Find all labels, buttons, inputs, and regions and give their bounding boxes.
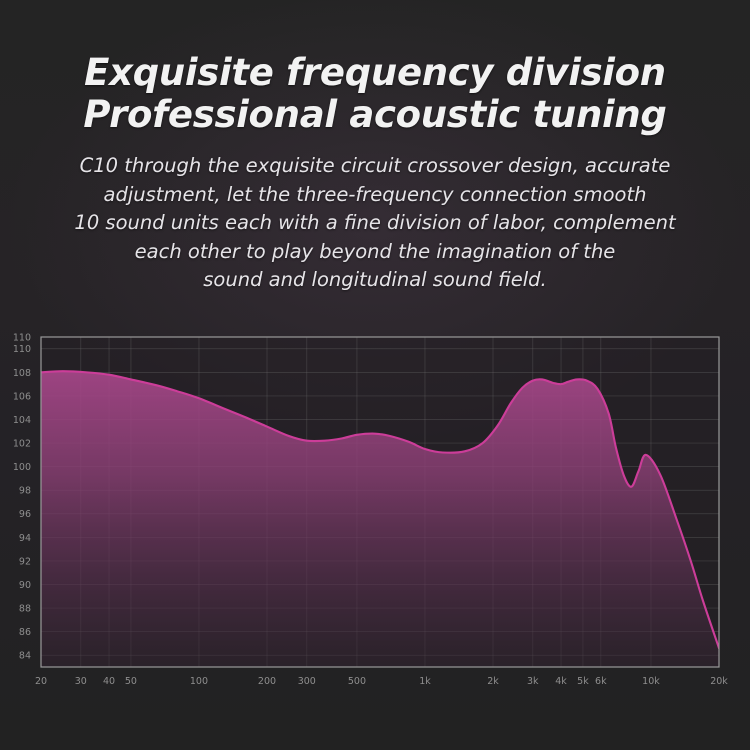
x-axis-label: 10k [642, 676, 660, 687]
x-axis-label: 30 [75, 676, 87, 687]
y-axis-label: 100 [13, 462, 31, 473]
title-line-2: Professional acoustic tuning [0, 94, 750, 136]
x-axis-tick-labels: 203040501002003005001k2k3k4k5k6k10k20k [35, 676, 728, 687]
y-axis-label: 84 [19, 651, 31, 662]
x-axis-label: 20k [710, 676, 728, 687]
description-line-2: adjustment, let the three-frequency conn… [0, 181, 750, 210]
y-axis-label: 88 [19, 603, 31, 614]
header: Exquisite frequency division Professiona… [0, 0, 750, 295]
x-axis-label: 2k [487, 676, 499, 687]
x-axis-label: 20 [35, 676, 47, 687]
page-description: C10 through the exquisite circuit crosso… [0, 152, 750, 295]
y-axis-label: 92 [19, 556, 31, 567]
y-axis-label: 106 [13, 391, 31, 402]
y-axis-label: 110 [13, 344, 31, 355]
x-axis-label: 4k [555, 676, 567, 687]
y-axis-label: 98 [19, 486, 31, 497]
x-axis-label: 50 [125, 676, 137, 687]
y-axis-label: 90 [19, 580, 31, 591]
x-axis-label: 200 [258, 676, 276, 687]
y-axis-label: 104 [13, 415, 31, 426]
y-axis-label: 108 [13, 368, 31, 379]
x-axis-label: 300 [298, 676, 316, 687]
y-axis-tick-labels: 1101101081061041021009896949290888684 [13, 332, 31, 661]
x-axis-label: 6k [595, 676, 607, 687]
x-axis-label: 40 [103, 676, 115, 687]
x-axis-label: 500 [348, 676, 366, 687]
page-title: Exquisite frequency division Professiona… [0, 52, 750, 136]
y-axis-label: 86 [19, 627, 31, 638]
x-axis-label: 1k [419, 676, 431, 687]
y-axis-label: 94 [19, 533, 31, 544]
y-axis-label: 96 [19, 509, 31, 520]
frequency-response-chart: 1101101081061041021009896949290888684 20… [0, 325, 750, 715]
x-axis-label: 3k [527, 676, 539, 687]
x-axis-label: 100 [190, 676, 208, 687]
chart-canvas: 1101101081061041021009896949290888684 20… [0, 325, 750, 715]
description-line-1: C10 through the exquisite circuit crosso… [0, 152, 750, 181]
y-axis-label: 110 [13, 332, 31, 343]
y-axis-label: 102 [13, 438, 31, 449]
x-axis-label: 5k [577, 676, 589, 687]
description-line-3: 10 sound units each with a fine division… [0, 209, 750, 238]
description-line-4: each other to play beyond the imaginatio… [0, 238, 750, 267]
product-promo-page: Exquisite frequency division Professiona… [0, 0, 750, 750]
title-line-1: Exquisite frequency division [0, 52, 750, 94]
description-line-5: sound and longitudinal sound field. [0, 266, 750, 295]
